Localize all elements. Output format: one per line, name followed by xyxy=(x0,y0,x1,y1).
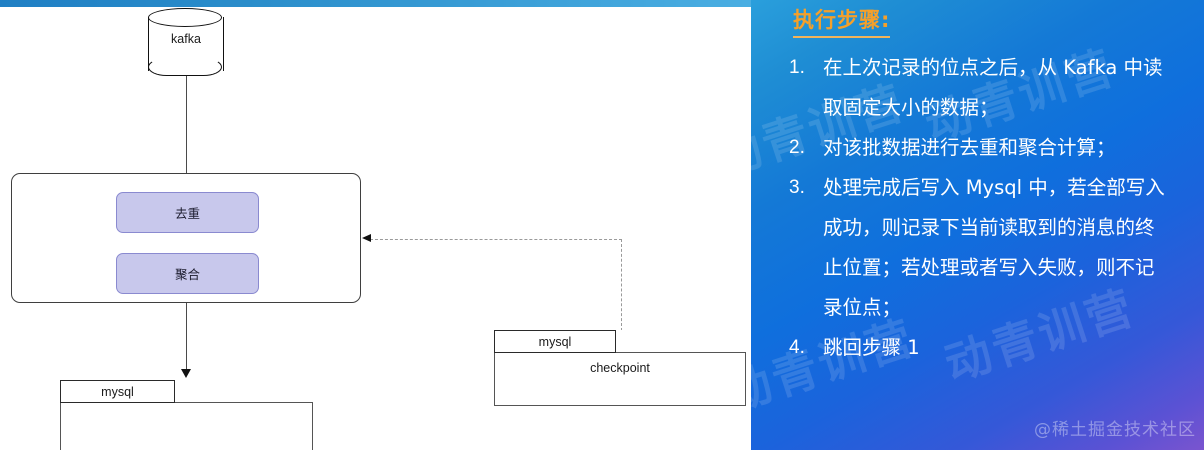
processing-step-aggregate[interactable]: 聚合 xyxy=(116,253,259,294)
step-body: 处理完成后写入 Mysql 中，若全部写入 成功，则记录下当前读取到的消息的终 … xyxy=(823,168,1204,328)
mysql-package[interactable]: mysql xyxy=(60,380,313,450)
steps-list: 1. 在上次记录的位点之后，从 Kafka 中读 取固定大小的数据； 2. 对该… xyxy=(789,48,1204,368)
step-line: 录位点； xyxy=(823,288,1204,328)
mysql-package-tab: mysql xyxy=(60,380,175,403)
list-item: 4. 跳回步骤 1 xyxy=(789,328,1204,368)
cylinder-top xyxy=(148,8,222,27)
processing-step-dedup[interactable]: 去重 xyxy=(116,192,259,233)
step-line: 止位置；若处理或者写入失败，则不记 xyxy=(823,248,1204,288)
arrowhead-to-mysql xyxy=(181,369,191,378)
checkpoint-package-content-label: checkpoint xyxy=(494,361,746,375)
step-line: 处理完成后写入 Mysql 中，若全部写入 xyxy=(823,168,1204,208)
kafka-node-label: kafka xyxy=(148,32,224,46)
step-body: 在上次记录的位点之后，从 Kafka 中读 取固定大小的数据； xyxy=(823,48,1204,128)
list-item: 2. 对该批数据进行去重和聚合计算； xyxy=(789,128,1204,168)
list-item: 1. 在上次记录的位点之后，从 Kafka 中读 取固定大小的数据； xyxy=(789,48,1204,128)
diagram-canvas: kafka 去重 聚合 mysql checkpoint xyxy=(0,0,751,450)
top-blue-strip xyxy=(0,0,751,7)
checkpoint-package-topline xyxy=(616,352,746,353)
step-number: 1. xyxy=(789,48,823,88)
step-body: 对该批数据进行去重和聚合计算； xyxy=(823,128,1204,168)
step-line: 取固定大小的数据； xyxy=(823,88,1204,128)
processing-step-dedup-label: 去重 xyxy=(175,203,200,222)
cylinder-bottom xyxy=(148,58,222,76)
credit-watermark: @稀土掘金技术社区 xyxy=(1034,415,1196,440)
processing-container[interactable]: 去重 聚合 xyxy=(11,173,361,303)
dashed-connector-vertical xyxy=(621,239,622,331)
step-line: 跳回步骤 1 xyxy=(823,328,1204,368)
connector-kafka-to-processing xyxy=(186,76,187,173)
connector-processing-to-mysql xyxy=(186,303,187,371)
step-body: 跳回步骤 1 xyxy=(823,328,1204,368)
kafka-node[interactable]: kafka xyxy=(148,8,224,80)
step-line: 对该批数据进行去重和聚合计算； xyxy=(823,128,1204,168)
screenshot-root: kafka 去重 聚合 mysql checkpoint xyxy=(0,0,1204,450)
arrowhead-to-processing xyxy=(362,234,371,242)
slide-title: 执行步骤: xyxy=(793,4,890,38)
step-number: 4. xyxy=(789,328,823,368)
checkpoint-package-tab-label: mysql xyxy=(539,335,572,349)
step-number: 3. xyxy=(789,168,823,208)
mysql-package-topline xyxy=(175,402,313,403)
step-line: 在上次记录的位点之后，从 Kafka 中读 xyxy=(823,48,1204,88)
list-item: 3. 处理完成后写入 Mysql 中，若全部写入 成功，则记录下当前读取到的消息… xyxy=(789,168,1204,328)
checkpoint-package-tab: mysql xyxy=(494,330,616,353)
step-number: 2. xyxy=(789,128,823,168)
mysql-package-frame xyxy=(60,402,313,450)
processing-step-aggregate-label: 聚合 xyxy=(175,264,200,283)
slide-panel: 动青训营 动青训营 动青训营 动青训营 执行步骤: 1. 在上次记录的位点之后，… xyxy=(751,0,1204,450)
dashed-connector-horizontal xyxy=(370,239,622,240)
mysql-package-tab-label: mysql xyxy=(101,385,134,399)
checkpoint-package[interactable]: mysql checkpoint xyxy=(494,330,746,406)
step-line: 成功，则记录下当前读取到的消息的终 xyxy=(823,208,1204,248)
